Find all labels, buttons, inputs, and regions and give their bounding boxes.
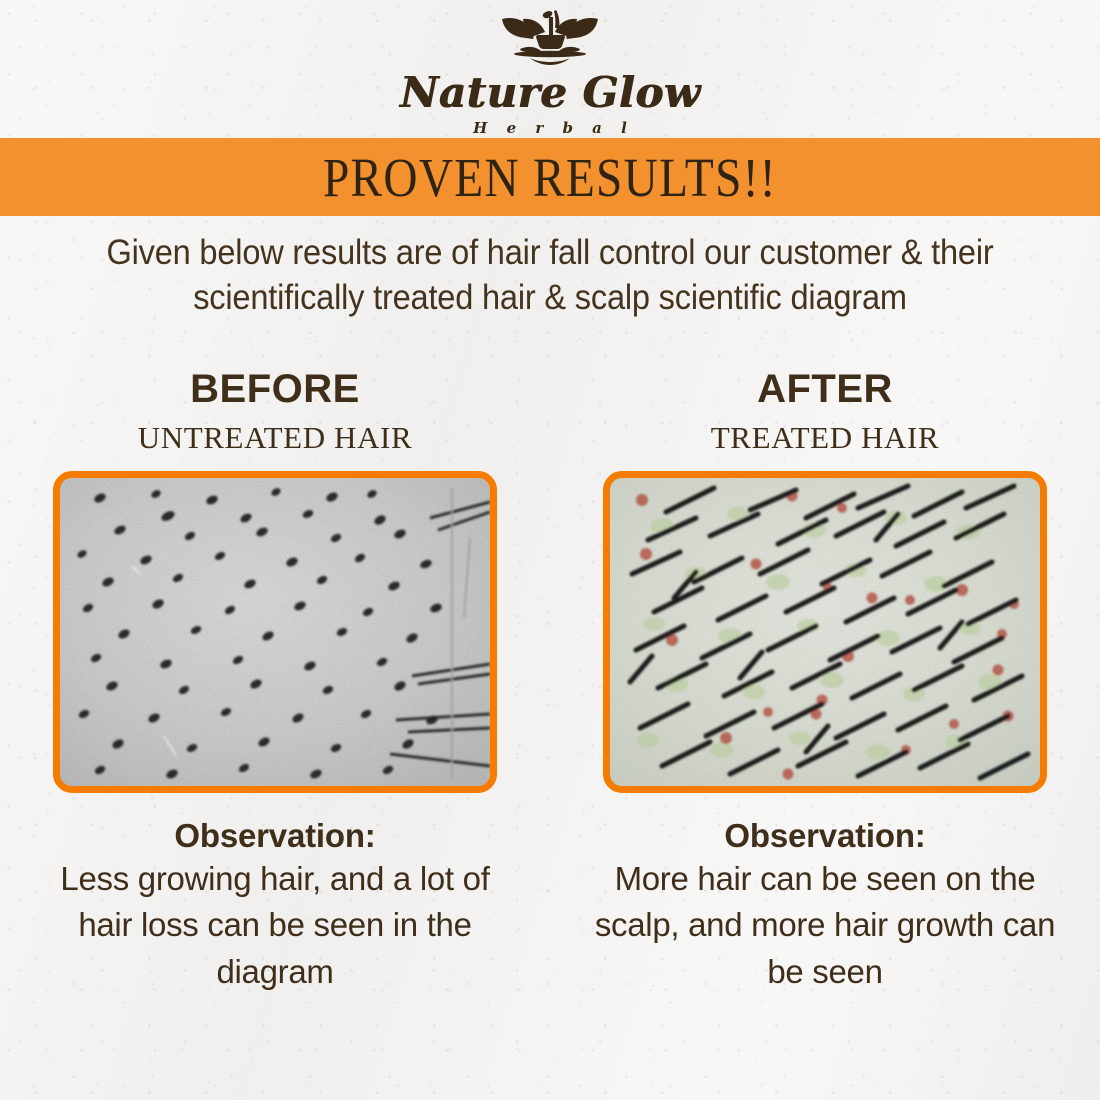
after-subheading: TREATED HAIR [711, 422, 939, 453]
before-observation: Observation: Less growing hair, and a lo… [40, 815, 510, 995]
before-observation-label: Observation: [40, 815, 510, 856]
after-observation: Observation: More hair can be seen on th… [590, 815, 1060, 995]
intro-description: Given below results are of hair fall con… [65, 231, 1036, 321]
proven-results-banner: PROVEN RESULTS!! [0, 138, 1100, 216]
before-heading: BEFORE [190, 368, 360, 410]
before-after-comparison: BEFORE UNTREATED HAIR [0, 368, 1100, 995]
banner-title: PROVEN RESULTS!! [323, 150, 777, 205]
before-subheading: UNTREATED HAIR [138, 422, 412, 453]
column-before: BEFORE UNTREATED HAIR [0, 368, 550, 995]
after-observation-label: Observation: [590, 815, 1060, 856]
brand-logo: Nature Glow H e r b a l [0, 8, 1100, 134]
mortar-pestle-leaves-icon [490, 8, 610, 75]
after-heading: AFTER [757, 368, 893, 410]
column-after: AFTER TREATED HAIR [550, 368, 1100, 995]
before-photo-frame [53, 471, 497, 793]
proven-results-poster: Nature Glow H e r b a l PROVEN RESULTS!!… [0, 0, 1100, 1100]
brand-tagline: H e r b a l [466, 119, 634, 137]
after-observation-text: More hair can be seen on the scalp, and … [590, 856, 1060, 995]
untreated-scalp-image [60, 478, 490, 786]
before-observation-text: Less growing hair, and a lot of hair los… [40, 856, 510, 995]
brand-name: Nature Glow [400, 72, 701, 114]
treated-scalp-image [610, 478, 1040, 786]
after-photo-frame [603, 471, 1047, 793]
